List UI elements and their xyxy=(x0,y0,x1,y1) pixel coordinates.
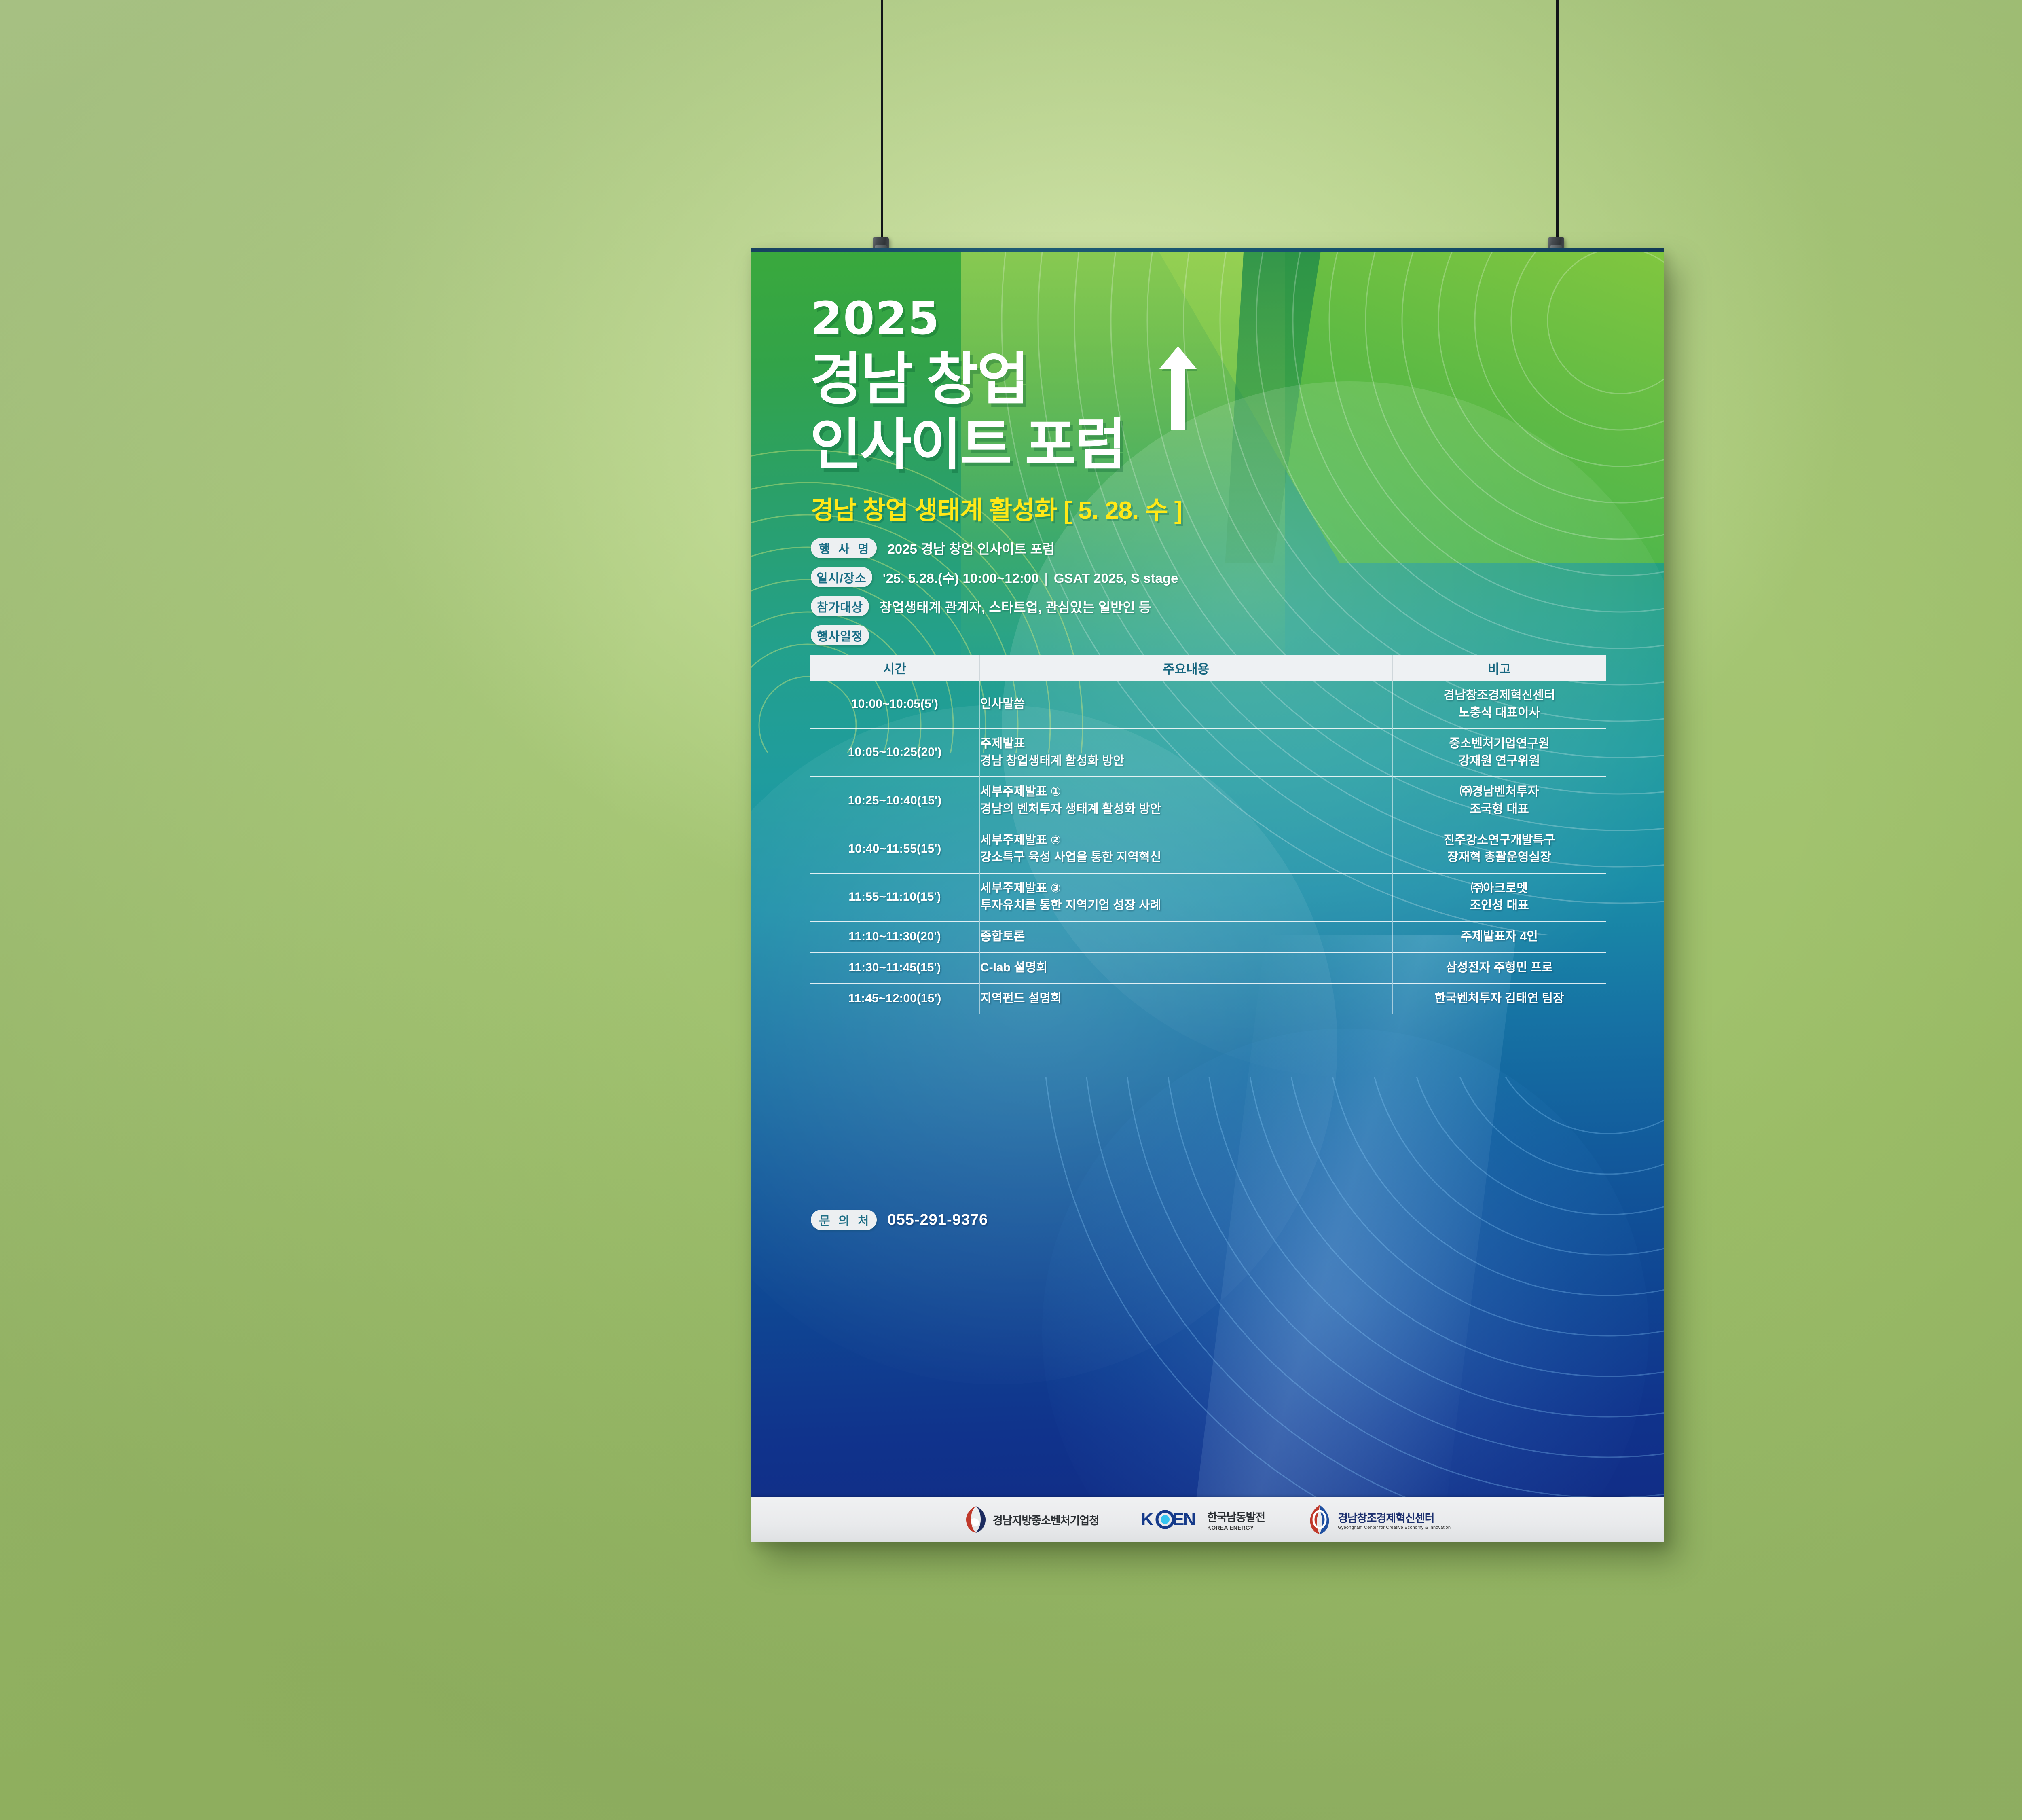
cell-note-line1: 삼성전자 주형민 프로 xyxy=(1393,959,1606,977)
svg-text:K: K xyxy=(1141,1509,1154,1529)
info-badge-audience: 참가대상 xyxy=(811,596,869,616)
contact-badge: 문 의 처 xyxy=(811,1210,877,1230)
info-value-event-name: 2025 경남 창업 인사이트 포럼 xyxy=(887,538,1055,558)
cell-content-line1: 인사말씀 xyxy=(980,696,1392,713)
contact-phone-number: 055-291-9376 xyxy=(887,1211,988,1229)
info-value-datetime-venue: '25. 5.28.(수) 10:00~12:00|GSAT 2025, S s… xyxy=(883,567,1178,587)
logo-label-kr: 경남창조경제혁신센터 xyxy=(1338,1509,1451,1525)
cell-content-line2: 강소특구 육성 사업을 통한 지역혁신 xyxy=(980,849,1392,866)
cell-content-line1: C-lab 설명회 xyxy=(980,959,1392,977)
gccei-icon xyxy=(1307,1504,1332,1535)
koen-icon: K EN xyxy=(1141,1508,1201,1531)
arrow-up-icon xyxy=(1159,346,1197,430)
info-value-datetime: '25. 5.28.(수) 10:00~12:00 xyxy=(883,571,1039,586)
info-row-schedule-label: 행사일정 xyxy=(811,622,1603,648)
column-header-time: 시간 xyxy=(810,655,980,681)
cell-note-line1: 한국벤처투자 김태연 팀장 xyxy=(1393,990,1606,1007)
cell-note: 중소벤처기업연구원 강재원 연구위원 xyxy=(1392,728,1606,777)
table-row: 10:00~10:05(5') 인사말씀 경남창조경제혁신센터 노충식 대표이사 xyxy=(810,681,1606,728)
cell-note-line2: 장재혁 총괄운영실장 xyxy=(1393,849,1606,866)
cell-note: ㈜아크로멧 조인성 대표 xyxy=(1392,873,1606,921)
info-badge-schedule: 행사일정 xyxy=(811,625,869,645)
logo-text-block: 경남창조경제혁신센터 Gyeongnam Center for Creative… xyxy=(1338,1509,1451,1530)
logo-text-block: 한국남동발전 KOREA ENERGY xyxy=(1207,1509,1265,1531)
table-row: 11:30~11:45(15') C-lab 설명회 삼성전자 주형민 프로 xyxy=(810,952,1606,984)
cell-content: 종합토론 xyxy=(980,921,1392,952)
column-header-content: 주요내용 xyxy=(980,655,1392,681)
poster-content: 2025 경남 창업 인사이트 포럼 경남 창업 생태계 활성화 [ 5. 28… xyxy=(751,248,1664,1542)
cell-content: 인사말씀 xyxy=(980,681,1392,728)
schedule-table-body: 10:00~10:05(5') 인사말씀 경남창조경제혁신센터 노충식 대표이사… xyxy=(810,681,1606,1014)
info-separator: | xyxy=(1039,571,1054,586)
svg-text:EN: EN xyxy=(1172,1509,1195,1529)
logo-label-en: Gyeongnam Center for Creative Economy & … xyxy=(1338,1525,1451,1530)
schedule-table: 시간 주요내용 비고 10:00~10:05(5') 인사말씀 경남창조경제혁신… xyxy=(810,655,1606,1014)
cell-time: 10:00~10:05(5') xyxy=(810,681,980,728)
cell-content: C-lab 설명회 xyxy=(980,952,1392,984)
table-row: 11:10~11:30(20') 종합토론 주제발표자 4인 xyxy=(810,921,1606,952)
hanging-string-right xyxy=(1556,0,1559,250)
poster-title-line-1: 경남 창업 xyxy=(810,351,1028,408)
table-row: 10:40~11:55(15') 세부주제발표 ② 강소특구 육성 사업을 통한… xyxy=(810,825,1606,873)
logo-koen-korea-south-east-power: K EN 한국남동발전 KOREA ENERGY xyxy=(1141,1508,1265,1531)
table-row: 11:55~11:10(15') 세부주제발표 ③ 투자유치를 통한 지역기업 … xyxy=(810,873,1606,921)
cell-content-line2: 경남 창업생태계 활성화 방안 xyxy=(980,753,1392,770)
logo-gyeongnam-ccei: 경남창조경제혁신센터 Gyeongnam Center for Creative… xyxy=(1307,1504,1451,1535)
cell-note-line1: 경남창조경제혁신센터 xyxy=(1393,687,1606,705)
cell-note-line2: 조인성 대표 xyxy=(1393,897,1606,914)
cell-note: 삼성전자 주형민 프로 xyxy=(1392,952,1606,984)
cell-time: 11:45~12:00(15') xyxy=(810,983,980,1014)
cell-content-line1: 세부주제발표 ③ xyxy=(980,880,1392,897)
cell-note-line1: ㈜경남벤처투자 xyxy=(1393,783,1606,801)
cell-content: 세부주제발표 ② 강소특구 육성 사업을 통한 지역혁신 xyxy=(980,825,1392,873)
cell-content-line2: 경남의 벤처투자 생태계 활성화 방안 xyxy=(980,801,1392,818)
info-badge-datetime-venue: 일시/장소 xyxy=(811,567,872,587)
cell-content: 지역펀드 설명회 xyxy=(980,983,1392,1014)
logo-label-kr: 경남지방중소벤처기업청 xyxy=(993,1512,1099,1528)
cell-note-line1: ㈜아크로멧 xyxy=(1393,880,1606,897)
cell-content-line1: 지역펀드 설명회 xyxy=(980,990,1392,1007)
cell-time: 10:40~11:55(15') xyxy=(810,825,980,873)
cell-note: 한국벤처투자 김태연 팀장 xyxy=(1392,983,1606,1014)
cell-note-line1: 중소벤처기업연구원 xyxy=(1393,735,1606,753)
cell-time: 10:05~10:25(20') xyxy=(810,728,980,777)
cell-note-line1: 주제발표자 4인 xyxy=(1393,928,1606,946)
cell-note-line2: 강재원 연구위원 xyxy=(1393,753,1606,770)
cell-content-line1: 종합토론 xyxy=(980,928,1392,946)
table-row: 10:25~10:40(15') 세부주제발표 ① 경남의 벤처투자 생태계 활… xyxy=(810,777,1606,825)
table-header-row: 시간 주요내용 비고 xyxy=(810,655,1606,681)
cell-note: 경남창조경제혁신센터 노충식 대표이사 xyxy=(1392,681,1606,728)
schedule-table-head: 시간 주요내용 비고 xyxy=(810,655,1606,681)
poster-subtitle: 경남 창업 생태계 활성화 [ 5. 28. 수 ] xyxy=(811,490,1182,526)
cell-time: 11:10~11:30(20') xyxy=(810,921,980,952)
logo-gyeongnam-sme-office: 경남지방중소벤처기업청 xyxy=(964,1505,1099,1534)
logo-label-en: KOREA ENERGY xyxy=(1207,1524,1265,1531)
column-header-note: 비고 xyxy=(1392,655,1606,681)
poster-year: 2025 xyxy=(811,296,940,341)
table-row: 11:45~12:00(15') 지역펀드 설명회 한국벤처투자 김태연 팀장 xyxy=(810,983,1606,1014)
info-row-audience: 참가대상 창업생태계 관계자, 스타트업, 관심있는 일반인 등 xyxy=(811,593,1603,619)
table-row: 10:05~10:25(20') 주제발표 경남 창업생태계 활성화 방안 중소… xyxy=(810,728,1606,777)
cell-content-line1: 주제발표 xyxy=(980,735,1392,753)
cell-content: 주제발표 경남 창업생태계 활성화 방안 xyxy=(980,728,1392,777)
cell-note: 주제발표자 4인 xyxy=(1392,921,1606,952)
contact-block: 문 의 처 055-291-9376 xyxy=(811,1210,988,1230)
info-badge-event-name: 행 사 명 xyxy=(811,538,877,558)
cell-note-line2: 노충식 대표이사 xyxy=(1393,705,1606,722)
cell-note-line1: 진주강소연구개발특구 xyxy=(1393,832,1606,849)
cell-note: ㈜경남벤처투자 조국형 대표 xyxy=(1392,777,1606,825)
logo-label-kr: 한국남동발전 xyxy=(1207,1509,1265,1524)
cell-content: 세부주제발표 ③ 투자유치를 통한 지역기업 성장 사례 xyxy=(980,873,1392,921)
sponsor-logo-bar: 경남지방중소벤처기업청 K EN 한국남동발전 KOREA ENERGY xyxy=(751,1497,1664,1542)
cell-note: 진주강소연구개발특구 장재혁 총괄운영실장 xyxy=(1392,825,1606,873)
poster-info-list: 행 사 명 2025 경남 창업 인사이트 포럼 일시/장소 '25. 5.28… xyxy=(811,535,1603,652)
info-row-event-name: 행 사 명 2025 경남 창업 인사이트 포럼 xyxy=(811,535,1603,561)
info-value-venue: GSAT 2025, S stage xyxy=(1054,571,1178,586)
cell-time: 10:25~10:40(15') xyxy=(810,777,980,825)
cell-content-line2: 투자유치를 통한 지역기업 성장 사례 xyxy=(980,897,1392,914)
info-row-datetime-venue: 일시/장소 '25. 5.28.(수) 10:00~12:00|GSAT 202… xyxy=(811,564,1603,590)
cell-content-line1: 세부주제발표 ① xyxy=(980,783,1392,801)
cell-time: 11:55~11:10(15') xyxy=(810,873,980,921)
gov-korea-taegeuk-icon xyxy=(964,1505,987,1534)
hanging-string-left xyxy=(881,0,883,250)
cell-note-line2: 조국형 대표 xyxy=(1393,801,1606,818)
cell-content: 세부주제발표 ① 경남의 벤처투자 생태계 활성화 방안 xyxy=(980,777,1392,825)
cell-content-line1: 세부주제발표 ② xyxy=(980,832,1392,849)
poster-title-line-2: 인사이트 포럼 xyxy=(810,417,1125,473)
info-value-audience: 창업생태계 관계자, 스타트업, 관심있는 일반인 등 xyxy=(880,597,1151,616)
logo-text-block: 경남지방중소벤처기업청 xyxy=(993,1512,1099,1528)
cell-time: 11:30~11:45(15') xyxy=(810,952,980,984)
event-poster: 2025 경남 창업 인사이트 포럼 경남 창업 생태계 활성화 [ 5. 28… xyxy=(751,248,1664,1542)
